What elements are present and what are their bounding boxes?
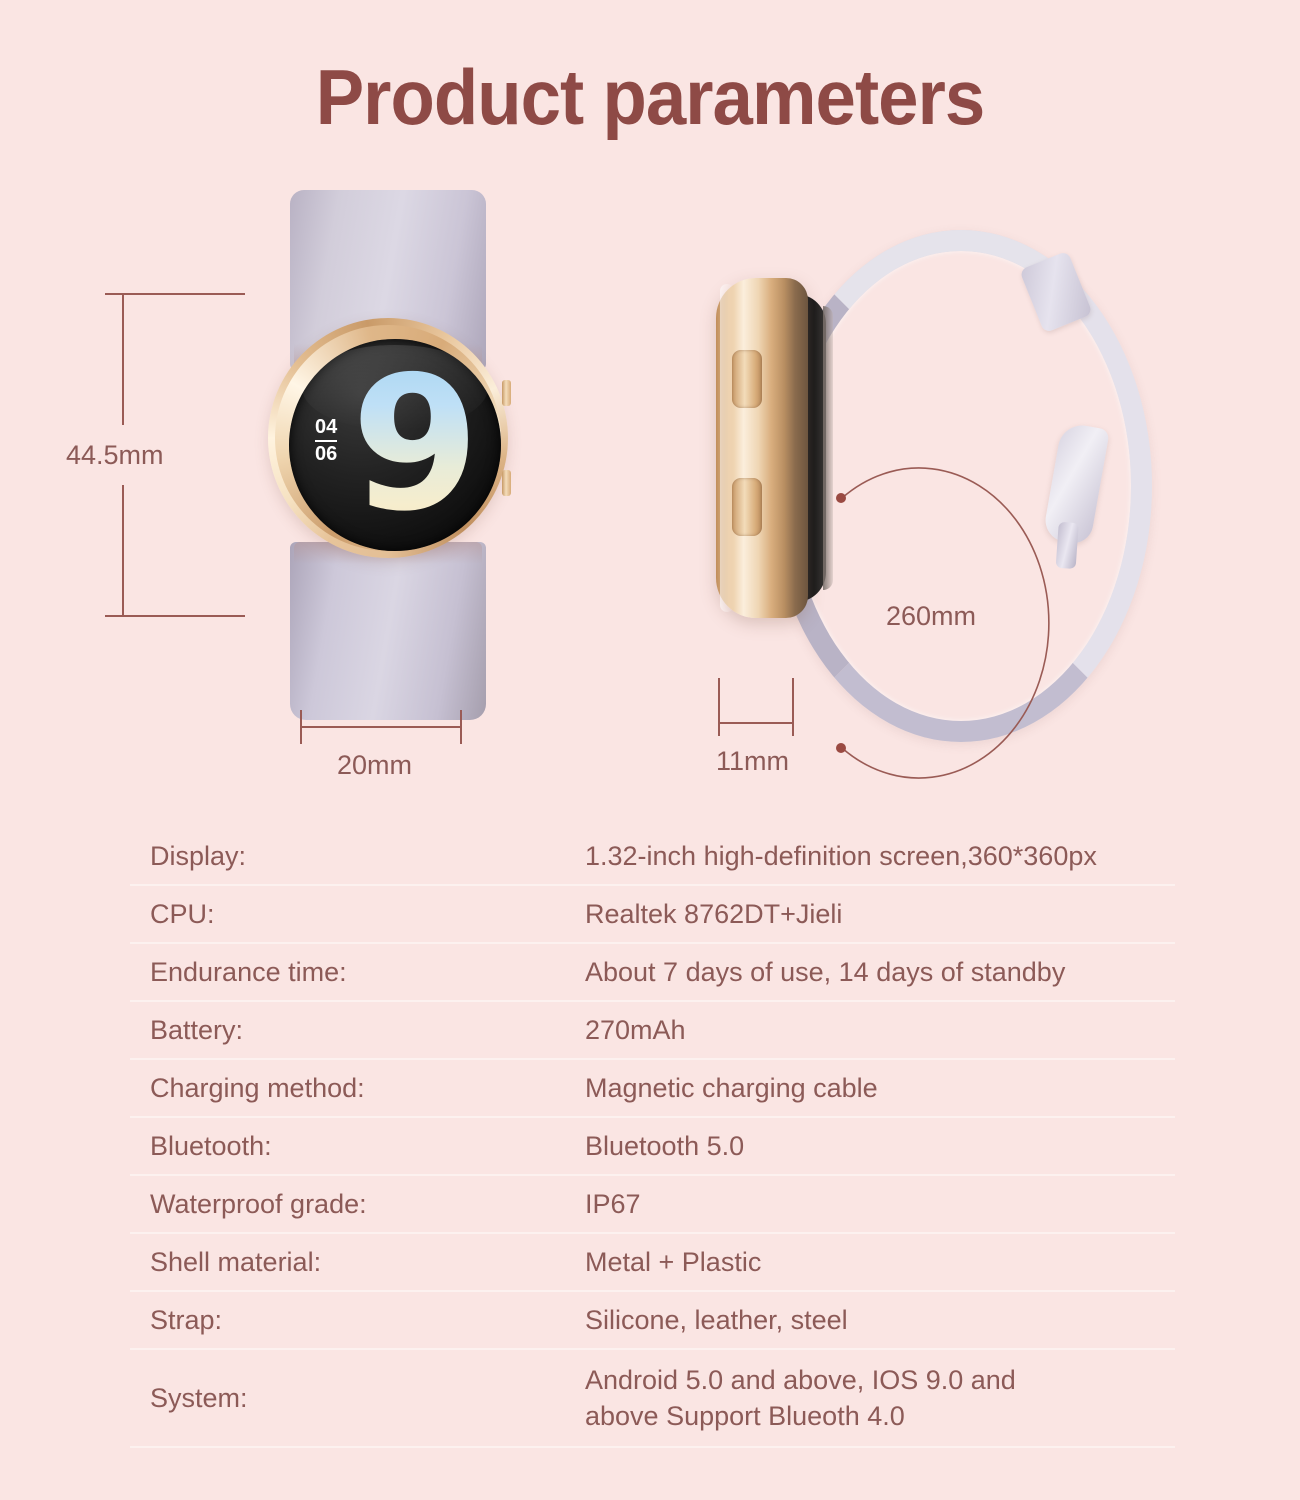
watch-case-side: [716, 278, 808, 618]
table-row: Strap: Silicone, leather, steel: [130, 1292, 1175, 1350]
dimension-label-thickness: 11mm: [716, 746, 789, 777]
dimension-tick-strap-right: [460, 710, 462, 744]
table-row: Waterproof grade: IP67: [130, 1176, 1175, 1234]
spec-label: Bluetooth:: [130, 1131, 585, 1162]
watch-date-bottom: 06: [315, 444, 337, 465]
watch-case-front: 04 06 9: [268, 318, 508, 558]
watch-front-view: 04 06 9: [268, 190, 508, 730]
watch-side-button-top-icon: [502, 380, 511, 406]
watch-strap-bottom: [290, 542, 486, 720]
table-row: Shell material: Metal + Plastic: [130, 1234, 1175, 1292]
dimension-label-height: 44.5mm: [66, 440, 164, 471]
dimension-label-band-circumference: 260mm: [886, 601, 976, 632]
spec-value: Bluetooth 5.0: [585, 1128, 1175, 1164]
table-row: Display: 1.32-inch high-definition scree…: [130, 828, 1175, 886]
dimension-label-strap-width: 20mm: [337, 750, 412, 781]
spec-value: 270mAh: [585, 1012, 1175, 1048]
watch-date-fraction: 04 06: [315, 417, 337, 465]
dimension-tick-thickness-left: [718, 678, 720, 736]
dimension-tick-thickness-right: [792, 678, 794, 736]
spec-value: Realtek 8762DT+Jieli: [585, 896, 1175, 932]
spec-label: CPU:: [130, 899, 585, 930]
spec-label: Display:: [130, 841, 585, 872]
table-row: CPU: Realtek 8762DT+Jieli: [130, 886, 1175, 944]
watch-screen: 04 06 9: [289, 339, 501, 551]
watch-date-top: 04: [315, 417, 337, 438]
spec-label: Shell material:: [130, 1247, 585, 1278]
spec-value: Silicone, leather, steel: [585, 1302, 1175, 1338]
spec-value: About 7 days of use, 14 days of standby: [585, 954, 1175, 990]
page-title: Product parameters: [46, 52, 1255, 143]
dimension-line-strap-width: [302, 726, 460, 728]
dimension-line-height-upper: [122, 295, 124, 425]
watch-big-digit: 9: [351, 349, 480, 539]
spec-value: 1.32-inch high-definition screen,360*360…: [585, 838, 1175, 874]
specifications-table: Display: 1.32-inch high-definition scree…: [130, 828, 1175, 1448]
table-row: Bluetooth: Bluetooth 5.0: [130, 1118, 1175, 1176]
watch-button-bottom: [732, 478, 762, 536]
spec-value: Android 5.0 and above, IOS 9.0 and above…: [585, 1362, 1175, 1434]
watch-side-button-bottom-icon: [502, 470, 511, 496]
dimension-tick-height-top: [105, 293, 245, 295]
table-row: Battery: 270mAh: [130, 1002, 1175, 1060]
product-illustration: 04 06 9 44.5mm 20mm: [0, 160, 1300, 800]
table-row: Charging method: Magnetic charging cable: [130, 1060, 1175, 1118]
watch-button-top: [732, 350, 762, 408]
spec-label: Charging method:: [130, 1073, 585, 1104]
spec-label: Endurance time:: [130, 957, 585, 988]
dimension-line-height-lower: [122, 485, 124, 615]
spec-label: Waterproof grade:: [130, 1189, 585, 1220]
dimension-line-thickness: [720, 722, 792, 724]
table-row: System: Android 5.0 and above, IOS 9.0 a…: [130, 1350, 1175, 1448]
watch-date-divider: [315, 440, 337, 442]
spec-label: Strap:: [130, 1305, 585, 1336]
spec-value: Magnetic charging cable: [585, 1070, 1175, 1106]
spec-value: Metal + Plastic: [585, 1244, 1175, 1280]
spec-value: IP67: [585, 1186, 1175, 1222]
spec-label: System:: [130, 1383, 585, 1414]
watch-bezel: 04 06 9: [275, 325, 501, 551]
dimension-tick-height-bottom: [105, 615, 245, 617]
spec-label: Battery:: [130, 1015, 585, 1046]
table-row: Endurance time: About 7 days of use, 14 …: [130, 944, 1175, 1002]
